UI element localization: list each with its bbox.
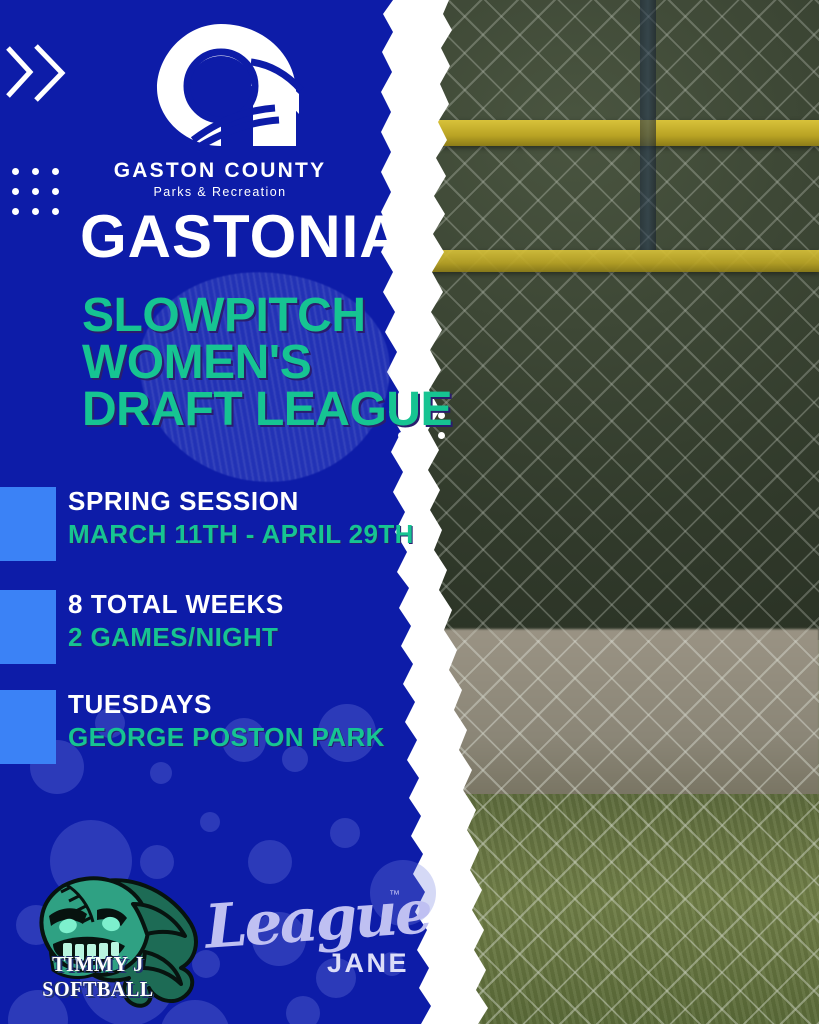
accent-chip: [0, 487, 56, 561]
info-lines: 8 TOTAL WEEKS 2 GAMES/NIGHT: [68, 588, 284, 653]
gaston-county-logo-mark: [133, 22, 308, 152]
league-jane-logo: League JANE ™: [205, 885, 405, 990]
info-title: SPRING SESSION: [68, 485, 414, 518]
flyer-canvas: League JANE: [0, 0, 819, 1024]
headline-line-3: DRAFT LEAGUE: [82, 386, 452, 433]
info-subtitle: MARCH 11TH - APRIL 29TH: [68, 518, 414, 551]
headline: SLOWPITCH WOMEN'S DRAFT LEAGUE: [82, 292, 452, 433]
info-lines: SPRING SESSION MARCH 11TH - APRIL 29TH: [68, 485, 414, 550]
dot-grid-3x3-left: [12, 168, 59, 215]
info-subtitle: GEORGE POSTON PARK: [68, 721, 385, 754]
page-title-city: GASTONIA: [80, 207, 404, 267]
league-jane-sub: JANE: [327, 948, 409, 979]
gaston-county-parks-logo: GASTON COUNTY Parks & Recreation: [110, 22, 330, 199]
info-title: 8 TOTAL WEEKS: [68, 588, 284, 621]
double-chevron-right-icon: [6, 42, 76, 104]
logo-name: GASTON COUNTY: [110, 159, 330, 183]
info-title: TUESDAYS: [68, 688, 385, 721]
accent-chip: [0, 690, 56, 764]
flyer-content: GASTON COUNTY Parks & Recreation GASTONI…: [0, 0, 470, 1024]
info-lines: TUESDAYS GEORGE POSTON PARK: [68, 688, 385, 753]
mascot-wordmark: TIMMY J SOFTBALL: [7, 952, 189, 1002]
headline-line-1: SLOWPITCH: [82, 292, 452, 339]
headline-line-2: WOMEN'S: [82, 339, 452, 386]
info-subtitle: 2 GAMES/NIGHT: [68, 621, 284, 654]
accent-chip: [0, 590, 56, 664]
trademark-symbol: ™: [389, 889, 400, 901]
logo-subtitle: Parks & Recreation: [110, 185, 330, 199]
